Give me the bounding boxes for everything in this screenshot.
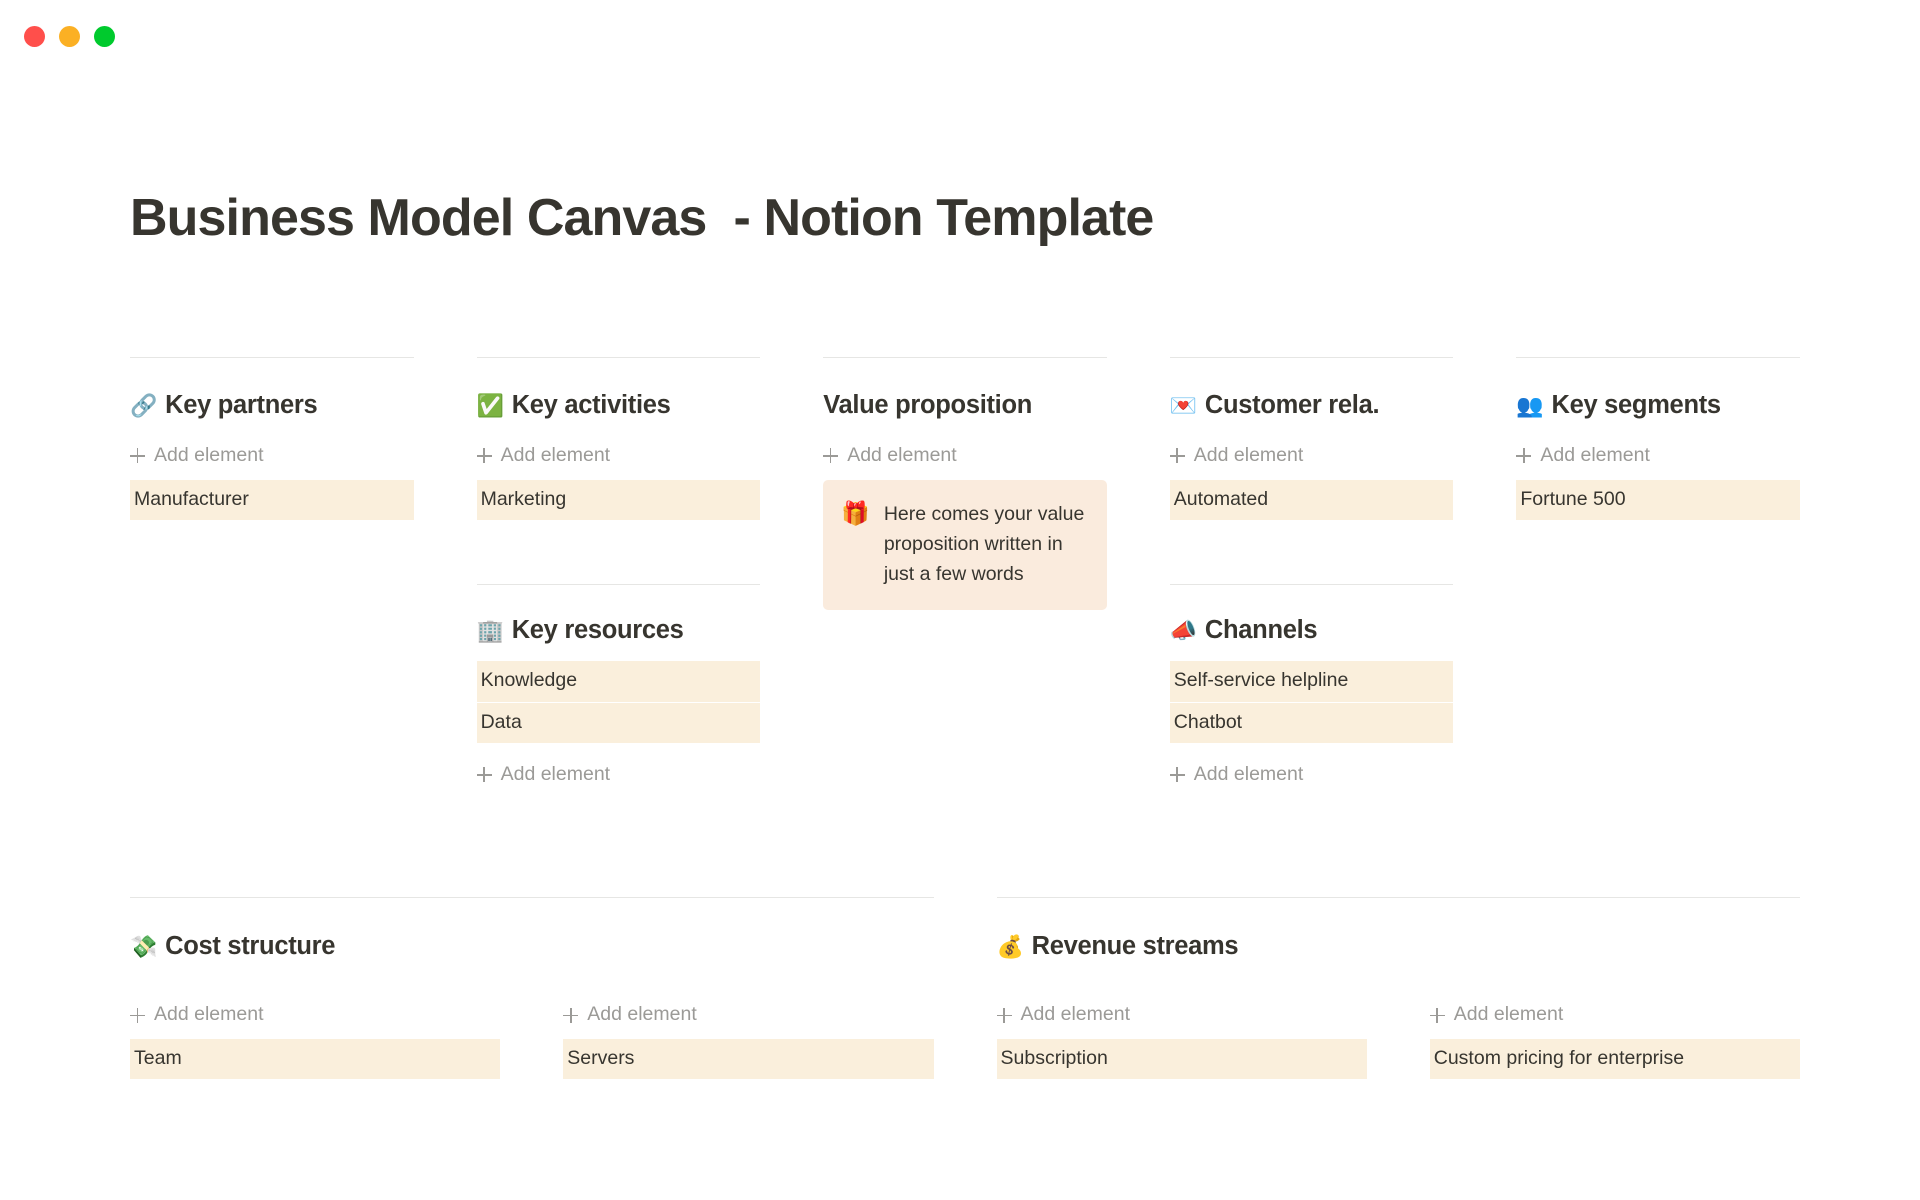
section-column-cost-structure-0: Add elementTeam bbox=[130, 1005, 500, 1079]
canvas-bottom-grid: 💸Cost structureAdd elementTeamAdd elemen… bbox=[130, 897, 1800, 1080]
block-title-customer-relationships: 💌Customer rela. bbox=[1170, 390, 1454, 422]
close-window-button[interactable] bbox=[24, 26, 45, 47]
block-title-value-proposition: Value proposition bbox=[823, 390, 1107, 422]
section-column-revenue-streams-1: Add elementCustom pricing for enterprise bbox=[1430, 1005, 1800, 1079]
page: Business Model Canvas - Notion Template … bbox=[0, 188, 1920, 1079]
column-divider-key-activities bbox=[477, 357, 761, 358]
block-title-label: Revenue streams bbox=[1032, 931, 1239, 963]
add-element-label: Add element bbox=[1194, 765, 1304, 785]
value-proposition-callout[interactable]: 🎁Here comes your value proposition writt… bbox=[823, 480, 1107, 611]
block-title-label: Key partners bbox=[165, 390, 317, 422]
page-title: Business Model Canvas - Notion Template bbox=[130, 188, 1800, 249]
add-element-label: Add element bbox=[847, 446, 957, 466]
block-title-label: Key resources bbox=[512, 615, 684, 647]
block-title-key-segments: 👥Key segments bbox=[1516, 390, 1800, 422]
canvas-top-grid: 🔗Key partnersAdd elementManufacturer✅Key… bbox=[130, 357, 1800, 784]
add-element-label: Add element bbox=[501, 765, 611, 785]
plus-icon bbox=[823, 448, 838, 463]
add-element-button[interactable]: Add element bbox=[1430, 1005, 1800, 1025]
add-element-label: Add element bbox=[1454, 1005, 1564, 1025]
maximize-window-button[interactable] bbox=[94, 26, 115, 47]
minimize-window-button[interactable] bbox=[59, 26, 80, 47]
column-divider-value-proposition bbox=[823, 357, 1107, 358]
plus-icon bbox=[563, 1008, 578, 1023]
add-element-label: Add element bbox=[1540, 446, 1650, 466]
add-element-button[interactable]: Add element bbox=[1170, 765, 1454, 785]
element-tag[interactable]: Team bbox=[130, 1039, 500, 1080]
plus-icon bbox=[477, 448, 492, 463]
add-element-button[interactable]: Add element bbox=[130, 446, 414, 466]
element-tag[interactable]: Marketing bbox=[477, 480, 761, 521]
block-title-label: Cost structure bbox=[165, 931, 335, 963]
check-mark-icon: ✅ bbox=[477, 395, 504, 417]
callout-wrapper: 🎁Here comes your value proposition writt… bbox=[823, 480, 1107, 611]
add-element-label: Add element bbox=[501, 446, 611, 466]
block-title-channels: 📣Channels bbox=[1170, 615, 1454, 647]
element-tag[interactable]: Self-service helpline bbox=[1170, 661, 1454, 702]
sub-divider-key-resources bbox=[477, 584, 761, 585]
element-tag[interactable]: Subscription bbox=[997, 1039, 1367, 1080]
element-tag[interactable]: Fortune 500 bbox=[1516, 480, 1800, 521]
plus-icon bbox=[130, 448, 145, 463]
section-column-cost-structure-1: Add elementServers bbox=[563, 1005, 933, 1079]
block-title-label: Key activities bbox=[512, 390, 671, 422]
add-element-button[interactable]: Add element bbox=[477, 446, 761, 466]
block-title-key-activities: ✅Key activities bbox=[477, 390, 761, 422]
add-element-button[interactable]: Add element bbox=[1516, 446, 1800, 466]
add-element-button[interactable]: Add element bbox=[823, 446, 1107, 466]
section-columns-revenue-streams: Add elementSubscriptionAdd elementCustom… bbox=[997, 1005, 1801, 1079]
column-divider-key-partners bbox=[130, 357, 414, 358]
block-title-key-partners: 🔗Key partners bbox=[130, 390, 414, 422]
megaphone-icon: 📣 bbox=[1170, 620, 1197, 642]
element-tag[interactable]: Knowledge bbox=[477, 661, 761, 702]
plus-icon bbox=[997, 1008, 1012, 1023]
add-element-button[interactable]: Add element bbox=[477, 765, 761, 785]
canvas-column-customer-relationships: 💌Customer rela.Add elementAutomated📣Chan… bbox=[1170, 357, 1454, 784]
section-divider-cost-structure bbox=[130, 897, 934, 898]
plus-icon bbox=[477, 767, 492, 782]
canvas-section-cost-structure: 💸Cost structureAdd elementTeamAdd elemen… bbox=[130, 897, 934, 1080]
plus-icon bbox=[1516, 448, 1531, 463]
plus-icon bbox=[1170, 767, 1185, 782]
block-title-cost-structure: 💸Cost structure bbox=[130, 931, 934, 963]
block-title-key-resources: 🏢Key resources bbox=[477, 615, 761, 647]
block-title-label: Customer rela. bbox=[1205, 390, 1379, 422]
element-tag[interactable]: Data bbox=[477, 703, 761, 744]
section-column-revenue-streams-0: Add elementSubscription bbox=[997, 1005, 1367, 1079]
add-element-button[interactable]: Add element bbox=[997, 1005, 1367, 1025]
canvas-column-value-proposition: Value propositionAdd element🎁Here comes … bbox=[823, 357, 1107, 784]
element-tag[interactable]: Servers bbox=[563, 1039, 933, 1080]
add-element-label: Add element bbox=[1021, 1005, 1131, 1025]
section-columns-cost-structure: Add elementTeamAdd elementServers bbox=[130, 1005, 934, 1079]
element-tag[interactable]: Chatbot bbox=[1170, 703, 1454, 744]
plus-icon bbox=[1430, 1008, 1445, 1023]
add-element-label: Add element bbox=[154, 446, 264, 466]
element-tag[interactable]: Custom pricing for enterprise bbox=[1430, 1039, 1800, 1080]
add-element-button[interactable]: Add element bbox=[130, 1005, 500, 1025]
people-icon: 👥 bbox=[1516, 395, 1543, 417]
sub-divider-channels bbox=[1170, 584, 1454, 585]
office-building-icon: 🏢 bbox=[477, 620, 504, 642]
block-title-label: Channels bbox=[1205, 615, 1317, 647]
love-letter-icon: 💌 bbox=[1170, 395, 1197, 417]
link-icon: 🔗 bbox=[130, 395, 157, 417]
plus-icon bbox=[1170, 448, 1185, 463]
canvas-column-key-activities: ✅Key activitiesAdd elementMarketing🏢Key … bbox=[477, 357, 761, 784]
element-tag[interactable]: Automated bbox=[1170, 480, 1454, 521]
window-titlebar bbox=[0, 0, 1920, 72]
canvas-section-revenue-streams: 💰Revenue streamsAdd elementSubscriptionA… bbox=[997, 897, 1801, 1080]
element-tag[interactable]: Manufacturer bbox=[130, 480, 414, 521]
column-divider-key-segments bbox=[1516, 357, 1800, 358]
section-divider-revenue-streams bbox=[997, 897, 1801, 898]
plus-icon bbox=[130, 1008, 145, 1023]
traffic-lights bbox=[24, 26, 115, 47]
block-title-revenue-streams: 💰Revenue streams bbox=[997, 931, 1801, 963]
canvas-column-key-partners: 🔗Key partnersAdd elementManufacturer bbox=[130, 357, 414, 784]
add-element-label: Add element bbox=[587, 1005, 697, 1025]
callout-text: Here comes your value proposition writte… bbox=[884, 499, 1089, 590]
add-element-button[interactable]: Add element bbox=[1170, 446, 1454, 466]
column-divider-customer-relationships bbox=[1170, 357, 1454, 358]
add-element-button[interactable]: Add element bbox=[563, 1005, 933, 1025]
add-element-label: Add element bbox=[1194, 446, 1304, 466]
add-element-label: Add element bbox=[154, 1005, 264, 1025]
block-title-label: Key segments bbox=[1551, 390, 1720, 422]
money-with-wings-icon: 💸 bbox=[130, 936, 157, 958]
gift-icon: 🎁 bbox=[841, 499, 870, 529]
canvas-column-key-segments: 👥Key segmentsAdd elementFortune 500 bbox=[1516, 357, 1800, 784]
block-title-label: Value proposition bbox=[823, 390, 1032, 422]
money-bag-icon: 💰 bbox=[997, 936, 1024, 958]
